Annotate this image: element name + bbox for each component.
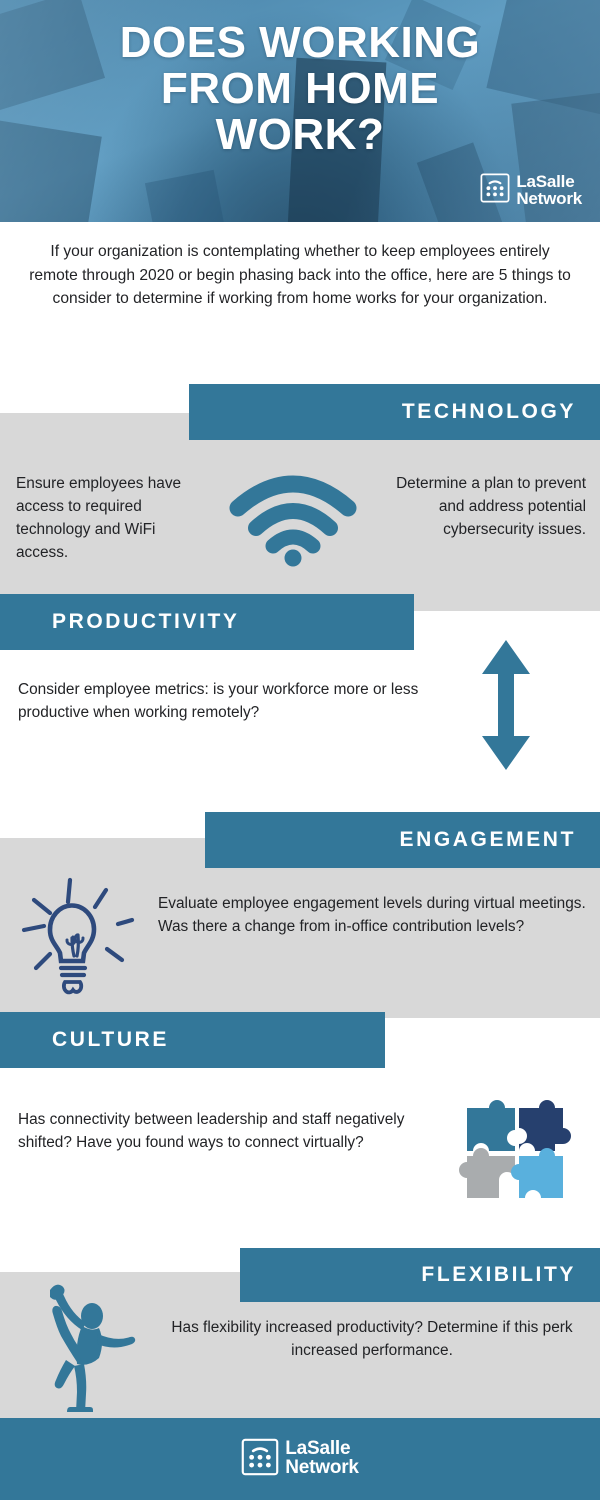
footer-logo: LaSalle Network [241, 1438, 359, 1481]
header-logo-wordmark: LaSalle Network [516, 174, 582, 207]
puzzle-pieces-icon [455, 1090, 579, 1214]
lasalle-dot-matrix-icon [241, 1438, 279, 1481]
logo-line-2: Network [516, 191, 582, 208]
culture-text: Has connectivity between leadership and … [18, 1108, 448, 1154]
section-title-technology: TECHNOLOGY [189, 384, 600, 440]
engagement-text: Evaluate employee engagement levels duri… [158, 892, 588, 938]
intro-paragraph: If your organization is contemplating wh… [28, 240, 572, 311]
technology-text-left: Ensure employees have access to required… [16, 472, 196, 564]
footer-logo-wordmark: LaSalle Network [285, 1440, 359, 1477]
section-title-flexibility: FLEXIBILITY [240, 1248, 600, 1302]
lasalle-dot-matrix-icon [480, 173, 510, 208]
header-banner: Does Working From Home Work? LaSalle Net… [0, 0, 600, 222]
footer-bar: LaSalle Network [0, 1418, 600, 1500]
section-title-culture: CULTURE [0, 1012, 385, 1068]
technology-text-right: Determine a plan to prevent and address … [390, 472, 586, 541]
lightbulb-icon [14, 872, 144, 996]
flexibility-text: Has flexibility increased productivity? … [150, 1316, 594, 1362]
infographic-page: Does Working From Home Work? LaSalle Net… [0, 0, 600, 1500]
up-down-arrow-icon [478, 638, 534, 772]
yoga-dancer-icon [16, 1278, 146, 1412]
productivity-text: Consider employee metrics: is your workf… [18, 678, 428, 724]
page-title: Does Working From Home Work? [0, 20, 600, 157]
header-logo: LaSalle Network [480, 173, 582, 208]
wifi-icon [228, 470, 358, 570]
logo-line-1: LaSalle [516, 174, 582, 191]
section-title-productivity: PRODUCTIVITY [0, 594, 414, 650]
section-title-engagement: ENGAGEMENT [205, 812, 600, 868]
logo-line-2: Network [285, 1459, 359, 1478]
